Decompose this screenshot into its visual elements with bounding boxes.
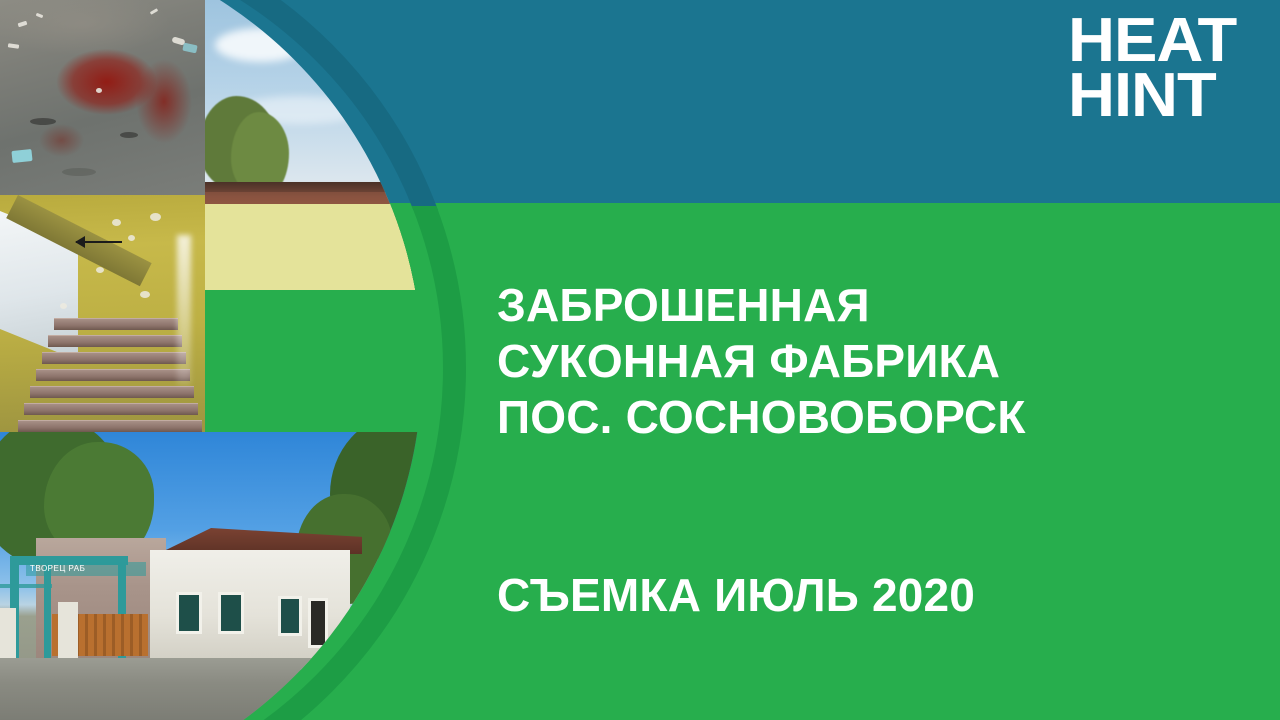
- photo-collage: ТВОРЕЦ РАБ: [0, 0, 422, 720]
- stairs: [32, 312, 182, 432]
- logo-line-2: HINT: [1068, 71, 1236, 122]
- thumbnail-canvas: ТВОРЕЦ РАБ HEAT HINT ЗАБРОШЕННАЯ СУКОННА…: [0, 0, 1280, 720]
- photo-concrete-floor: [0, 0, 205, 195]
- page-title: ЗАБРОШЕННАЯ СУКОННАЯ ФАБРИКА ПОС. СОСНОВ…: [497, 277, 1227, 445]
- logo-line-1: HEAT: [1068, 16, 1236, 67]
- overgrowth: [205, 204, 422, 290]
- photo-brick-ruin: [205, 0, 422, 290]
- photo-stairwell: [0, 195, 205, 432]
- title-line-3: ПОС. СОСНОВОБОРСК: [497, 389, 1227, 445]
- title-line-2: СУКОННАЯ ФАБРИКА: [497, 333, 1227, 389]
- photo-white-building: ТВОРЕЦ РАБ: [0, 432, 422, 720]
- channel-logo: HEAT HINT: [1068, 16, 1236, 122]
- photo-collage-disc: ТВОРЕЦ РАБ: [0, 0, 422, 720]
- road: [0, 658, 422, 720]
- gate-sign: ТВОРЕЦ РАБ: [26, 562, 146, 576]
- subtitle: СЪЕМКА ИЮЛЬ 2020: [497, 567, 1227, 623]
- arrow-sign-icon: [76, 241, 122, 243]
- title-line-1: ЗАБРОШЕННАЯ: [497, 277, 1227, 333]
